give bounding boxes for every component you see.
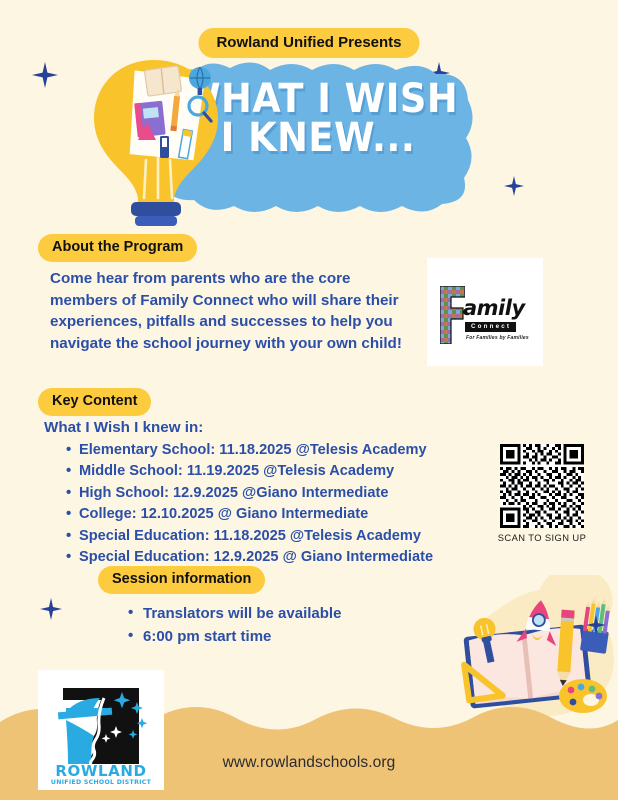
- list-item: Special Education: 11.18.2025 @Telesis A…: [66, 526, 494, 548]
- family-connect-tagline: For Families by Families: [466, 335, 529, 341]
- session-information-badge: Session information: [98, 566, 265, 594]
- about-program-badge: About the Program: [38, 234, 197, 262]
- district-logo-name: ROWLAND: [55, 762, 146, 780]
- sparkle-icon: [504, 176, 524, 196]
- sparkle-icon: [32, 62, 58, 88]
- session-information-section: Translators will be available 6:00 pm st…: [128, 602, 341, 649]
- session-list: Translators will be available 6:00 pm st…: [128, 602, 341, 649]
- key-content-section: What I Wish I knew in: Elementary School…: [44, 418, 494, 569]
- qr-caption: SCAN TO SIGN UP: [492, 532, 592, 543]
- key-content-lead: What I Wish I knew in:: [44, 418, 494, 439]
- list-item: College: 12.10.2025 @ Giano Intermediate: [66, 504, 494, 526]
- sparkle-icon: [40, 598, 62, 620]
- key-content-badge: Key Content: [38, 388, 151, 416]
- rowland-district-logo: ROWLAND UNIFIED SCHOOL DISTRICT: [38, 670, 164, 790]
- family-connect-logo: amily Connect For Families by Families: [427, 258, 543, 366]
- presents-badge: Rowland Unified Presents: [198, 28, 419, 58]
- list-item: High School: 12.9.2025 @Giano Intermedia…: [66, 483, 494, 505]
- family-connect-wordmark: amily: [463, 298, 525, 319]
- list-item: 6:00 pm start time: [128, 625, 341, 648]
- list-item: Elementary School: 11.18.2025 @Telesis A…: [66, 440, 494, 462]
- about-program-paragraph: Come hear from parents who are the core …: [50, 268, 410, 354]
- list-item: Middle School: 11.19.2025 @Telesis Acade…: [66, 461, 494, 483]
- qr-code-icon[interactable]: [500, 444, 584, 528]
- book-supplies-illustration: [445, 588, 618, 720]
- family-connect-f-mark: [440, 286, 465, 344]
- family-connect-subword: Connect: [465, 322, 516, 332]
- list-item: Translators will be available: [128, 602, 341, 625]
- district-logo-subtitle: UNIFIED SCHOOL DISTRICT: [51, 779, 152, 786]
- lightbulb-icon: [82, 52, 227, 227]
- flyer-canvas: Rowland Unified Presents WHAT I WISH I K…: [0, 0, 618, 800]
- key-content-list: Elementary School: 11.18.2025 @Telesis A…: [44, 440, 494, 570]
- signup-qr-block[interactable]: SCAN TO SIGN UP: [492, 444, 592, 543]
